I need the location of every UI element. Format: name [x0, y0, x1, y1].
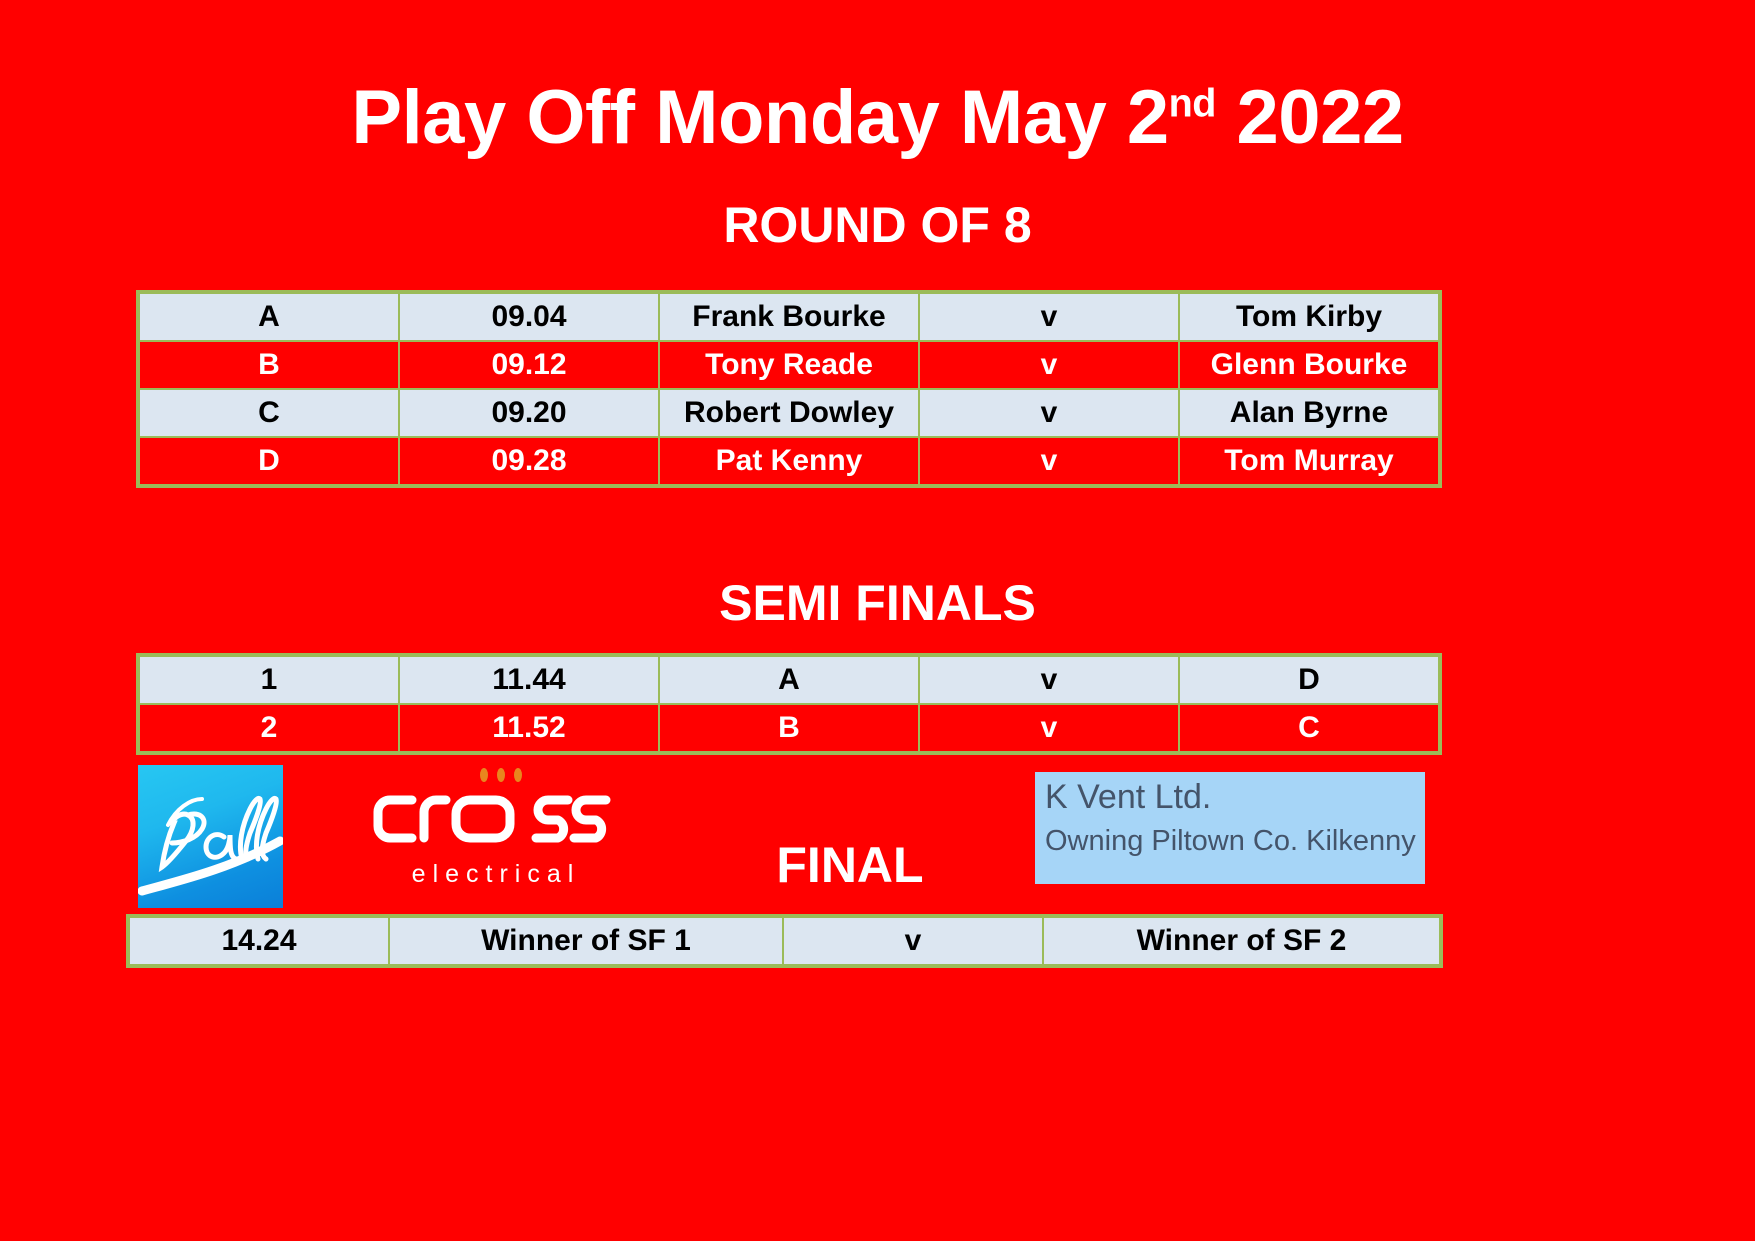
page-title-ordinal-suffix: nd [1169, 82, 1216, 126]
match-time: 11.52 [400, 705, 658, 751]
table-row: A 09.04 Frank Bourke v Tom Kirby [140, 294, 1438, 340]
versus-label: v [920, 294, 1178, 340]
match-time: 09.12 [400, 342, 658, 388]
page-title-prefix: Play Off Monday May 2 [351, 75, 1168, 160]
match-code: C [140, 390, 398, 436]
table-row: 14.24 Winner of SF 1 v Winner of SF 2 [130, 918, 1439, 964]
round-of-8-heading: ROUND OF 8 [0, 196, 1755, 254]
match-code: 2 [140, 705, 398, 751]
player-one: A [660, 657, 918, 703]
kvent-subtitle: Owning Piltown Co. Kilkenny [1045, 823, 1417, 859]
cross-logo-wordmark [372, 784, 612, 846]
match-time: 09.20 [400, 390, 658, 436]
ball-logo [138, 765, 283, 908]
player-two: Tom Kirby [1180, 294, 1438, 340]
table-row: D 09.28 Pat Kenny v Tom Murray [140, 438, 1438, 484]
cross-electrical-logo: electrical [372, 768, 612, 900]
player-one: Pat Kenny [660, 438, 918, 484]
page-title-year: 2022 [1216, 75, 1404, 160]
round-of-8-table: A 09.04 Frank Bourke v Tom Kirby B 09.12… [136, 290, 1442, 488]
match-code: B [140, 342, 398, 388]
versus-label: v [920, 705, 1178, 751]
table-row: 2 11.52 B v C [140, 705, 1438, 751]
page-title: Play Off Monday May 2nd 2022 [0, 78, 1755, 158]
match-time: 09.04 [400, 294, 658, 340]
player-two: C [1180, 705, 1438, 751]
player-one: Winner of SF 1 [390, 918, 782, 964]
player-two: Glenn Bourke [1180, 342, 1438, 388]
match-code: A [140, 294, 398, 340]
player-one: B [660, 705, 918, 751]
match-code: D [140, 438, 398, 484]
player-one: Tony Reade [660, 342, 918, 388]
player-two: Alan Byrne [1180, 390, 1438, 436]
versus-label: v [920, 438, 1178, 484]
versus-label: v [920, 342, 1178, 388]
kvent-sponsor-box: K Vent Ltd. Owning Piltown Co. Kilkenny [1035, 772, 1425, 884]
player-two: D [1180, 657, 1438, 703]
final-heading: FINAL [700, 836, 1000, 894]
versus-label: v [920, 390, 1178, 436]
semi-finals-heading: SEMI FINALS [0, 574, 1755, 632]
final-table: 14.24 Winner of SF 1 v Winner of SF 2 [126, 914, 1443, 968]
match-time: 14.24 [130, 918, 388, 964]
cross-logo-subtitle: electrical [376, 860, 616, 889]
player-two: Winner of SF 2 [1044, 918, 1439, 964]
player-two: Tom Murray [1180, 438, 1438, 484]
kvent-title: K Vent Ltd. [1045, 778, 1417, 817]
cross-logo-dots-icon [480, 768, 540, 784]
versus-label: v [784, 918, 1042, 964]
table-row: C 09.20 Robert Dowley v Alan Byrne [140, 390, 1438, 436]
match-code: 1 [140, 657, 398, 703]
player-one: Frank Bourke [660, 294, 918, 340]
match-time: 11.44 [400, 657, 658, 703]
table-row: B 09.12 Tony Reade v Glenn Bourke [140, 342, 1438, 388]
versus-label: v [920, 657, 1178, 703]
match-time: 09.28 [400, 438, 658, 484]
poster-root: Play Off Monday May 2nd 2022 ROUND OF 8 … [0, 0, 1755, 1241]
player-one: Robert Dowley [660, 390, 918, 436]
semi-finals-table: 1 11.44 A v D 2 11.52 B v C [136, 653, 1442, 755]
table-row: 1 11.44 A v D [140, 657, 1438, 703]
